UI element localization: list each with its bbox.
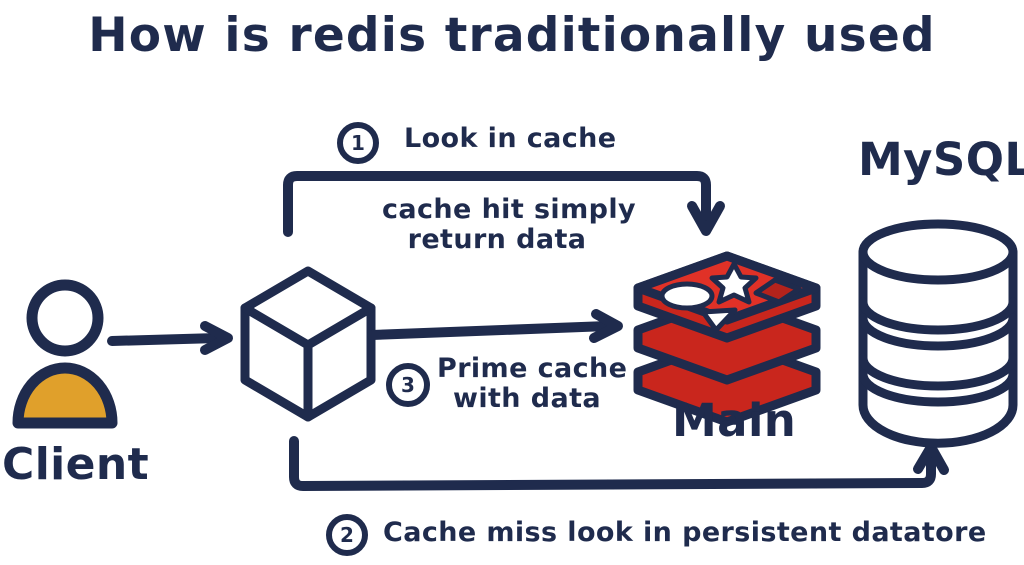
client-label: Client: [2, 440, 149, 489]
cache-label: Main: [672, 396, 796, 446]
diagram-vector-layer: [0, 0, 1024, 565]
arrow-client-to-app: [112, 326, 228, 350]
diagram-canvas: How is redis traditionally used 1 3 2 Lo…: [0, 0, 1024, 565]
step-badge-3-number: 3: [391, 373, 425, 397]
page-title: How is redis traditionally used: [0, 10, 1024, 63]
person-body: [18, 368, 112, 423]
cache-hit-line-2: return data: [408, 224, 587, 255]
flow-3-line-1: Prime cache: [437, 353, 627, 384]
flow-3-label: Prime cachewith data: [437, 354, 617, 414]
flow-1-label: Look in cache: [404, 124, 617, 154]
arrow-flow-2: [294, 441, 944, 486]
person-icon: [18, 285, 112, 423]
cache-hit-line-1: cache hit simply: [382, 194, 636, 225]
cube-icon: [245, 271, 371, 417]
step-badge-2-number: 2: [330, 523, 364, 547]
database-cylinder-icon: [863, 224, 1013, 443]
flow-3-line-2: with data: [453, 383, 601, 414]
redis-ellipse-glyph: [662, 284, 712, 308]
database-label: MySQL: [858, 135, 1024, 185]
step-badge-1-number: 1: [341, 131, 375, 155]
person-head: [32, 285, 98, 351]
flow-2-label: Cache miss look in persistent datatore: [383, 518, 987, 548]
arrow-flow-3: [372, 314, 618, 338]
cache-hit-annotation: cache hit simplyreturn data: [382, 195, 612, 255]
